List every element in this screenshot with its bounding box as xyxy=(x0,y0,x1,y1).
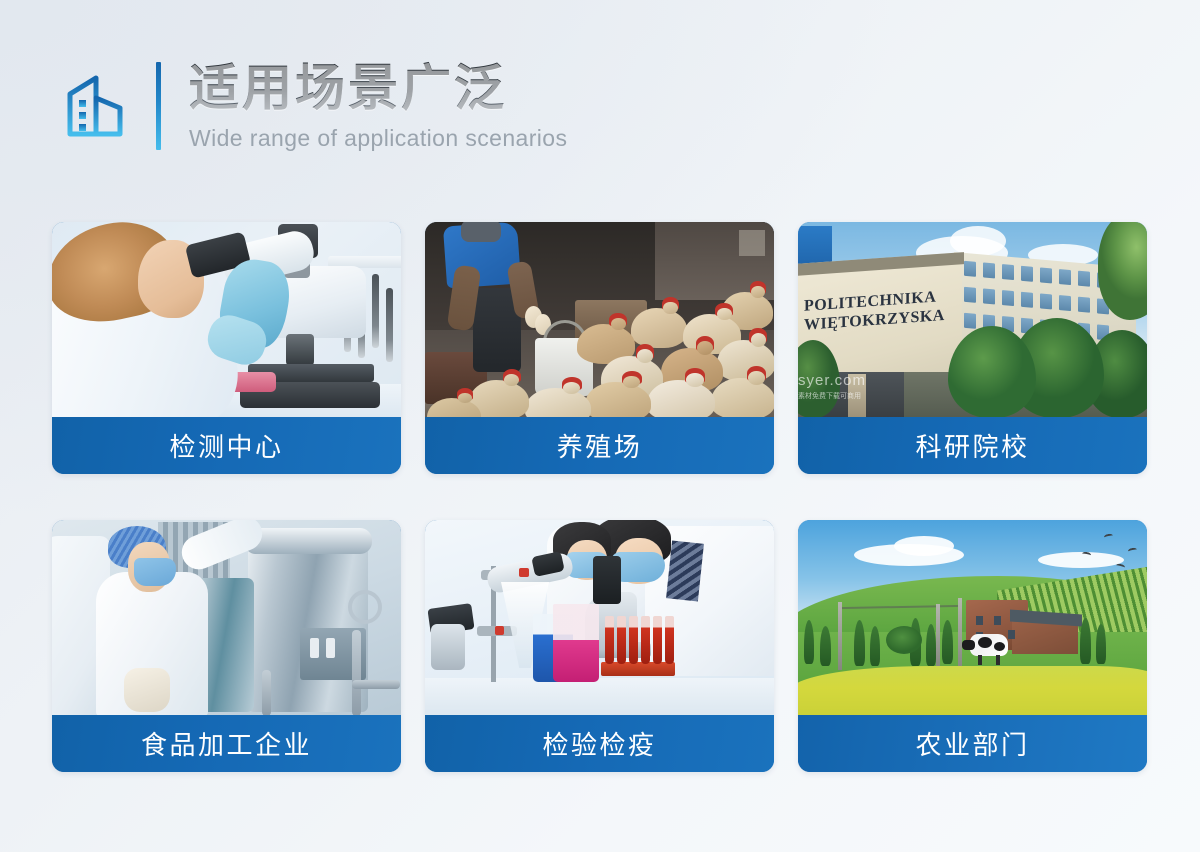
university-campus-photo: POLITECHNIKA WIĘTOKRZYSKA syer.com 素材免费下… xyxy=(798,222,1147,418)
card-label: 检测中心 xyxy=(52,417,401,474)
header-content: 适用场景广泛 Wide range of application scenari… xyxy=(62,60,567,152)
scenario-card-food-processing[interactable]: 食品加工企业 xyxy=(52,520,401,772)
header-divider xyxy=(156,62,161,150)
header-titles: 适用场景广泛 Wide range of application scenari… xyxy=(189,60,567,152)
card-label: 农业部门 xyxy=(798,715,1147,772)
scenario-card-agriculture-department[interactable]: 农业部门 xyxy=(798,520,1147,772)
card-label: 养殖场 xyxy=(425,417,774,474)
card-label: 科研院校 xyxy=(798,417,1147,474)
scenario-card-inspection-quarantine[interactable]: 检验检疫 xyxy=(425,520,774,772)
scenario-card-research-institutes[interactable]: POLITECHNIKA WIĘTOKRZYSKA syer.com 素材免费下… xyxy=(798,222,1147,474)
inspection-lab-photo xyxy=(425,520,774,716)
food-processing-photo xyxy=(52,520,401,716)
page-title: 适用场景广泛 xyxy=(189,60,567,116)
scenario-card-breeding-farm[interactable]: 养殖场 xyxy=(425,222,774,474)
microscope-lab-photo xyxy=(52,222,401,418)
image-watermark: syer.com 素材免费下载可商用 xyxy=(798,372,918,401)
scenario-card-detection-center[interactable]: 检测中心 xyxy=(52,222,401,474)
farmland-photo xyxy=(798,520,1147,716)
building-icon xyxy=(62,70,134,142)
scenario-card-grid: 检测中心 xyxy=(52,222,1148,772)
page-header: 适用场景广泛 Wide range of application scenari… xyxy=(0,0,1200,200)
watermark-text: syer.com xyxy=(798,372,866,389)
poultry-farm-photo xyxy=(425,222,774,418)
card-label: 检验检疫 xyxy=(425,715,774,772)
card-label: 食品加工企业 xyxy=(52,715,401,772)
watermark-subtext: 素材免费下载可商用 xyxy=(798,391,918,401)
page-subtitle: Wide range of application scenarios xyxy=(189,125,567,152)
